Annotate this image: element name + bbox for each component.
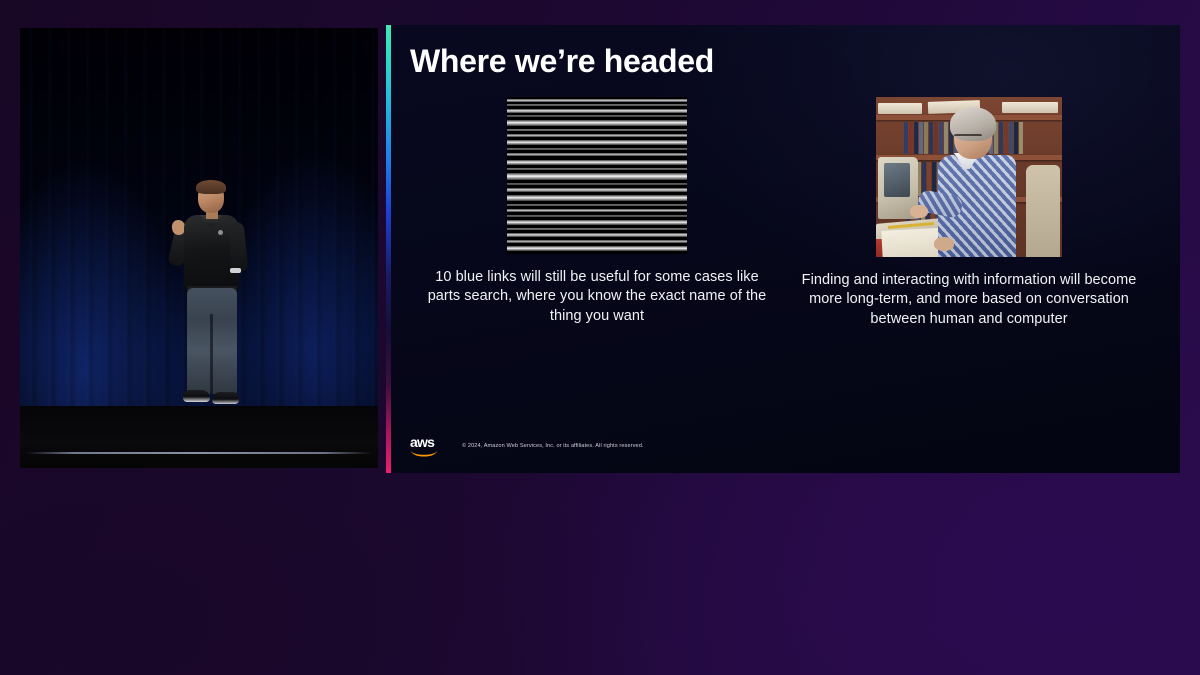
- screen-backdrop: Where we’re headed 10 blue links will st…: [0, 0, 1200, 675]
- photo-monitor-screen: [884, 163, 910, 197]
- photo-person-hand: [910, 205, 928, 218]
- barcode-stripe: [507, 148, 687, 150]
- speaker-stage-video[interactable]: [20, 28, 378, 468]
- barcode-stripe: [507, 209, 687, 212]
- barcode-stripe: [507, 168, 687, 170]
- barcode-figure-wrap: [418, 97, 776, 254]
- caption-right: Finding and interacting with information…: [790, 271, 1148, 329]
- slide-column-left: 10 blue links will still be useful for s…: [418, 97, 776, 326]
- barcode-stripe: [507, 215, 687, 217]
- vintage-librarian-at-computer-photo: [876, 97, 1062, 257]
- barcode-stripe: [507, 115, 687, 117]
- barcode-stripe: [507, 228, 687, 230]
- barcode-stripe: [507, 140, 687, 145]
- barcode-stripes-image: [507, 97, 687, 254]
- slide-footer: aws © 2024, Amazon Web Services, Inc. or…: [410, 435, 644, 457]
- barcode-stripe: [507, 233, 687, 237]
- presenter-left-shoe: [183, 390, 210, 402]
- photo-person-hand-lower: [934, 237, 954, 251]
- aws-wordmark: aws: [410, 435, 438, 449]
- copyright-text: © 2024, Amazon Web Services, Inc. or its…: [462, 443, 644, 449]
- gradient-accent-bar: [386, 25, 391, 473]
- barcode-stripe: [507, 195, 687, 201]
- barcode-stripe: [507, 220, 687, 225]
- barcode-stripe: [507, 153, 687, 156]
- aws-smile-arrow-icon: [411, 449, 437, 456]
- presenter-hair: [196, 180, 226, 194]
- barcode-stripe: [507, 246, 687, 251]
- presenter-right-shoe: [212, 392, 239, 404]
- photo-top-papers-left: [878, 103, 922, 114]
- presenter-jeans: [187, 288, 237, 394]
- barcode-stripe: [507, 173, 687, 180]
- barcode-stripe: [507, 188, 687, 192]
- aws-logo-icon: aws: [410, 435, 438, 457]
- barcode-stripe: [507, 134, 687, 137]
- barcode-stripe: [507, 104, 687, 106]
- barcode-stripe: [507, 160, 687, 165]
- barcode-stripe: [507, 240, 687, 243]
- presenter-shirt-logo: [218, 230, 223, 235]
- barcode-stripe: [507, 204, 687, 206]
- barcode-stripe: [507, 129, 687, 131]
- presentation-slide[interactable]: Where we’re headed 10 blue links will st…: [386, 25, 1180, 473]
- photo-person-glasses: [954, 134, 982, 140]
- stage-floor-edge: [26, 452, 372, 454]
- barcode-stripe: [507, 183, 687, 185]
- presenter-wristwatch: [230, 268, 241, 273]
- barcode-stripe: [507, 120, 687, 126]
- slide-title: Where we’re headed: [410, 43, 714, 80]
- photo-top-papers-right: [1002, 102, 1058, 113]
- presenter-figure: [166, 182, 256, 420]
- photo-figure-wrap: [790, 97, 1148, 257]
- photo-chair: [1026, 165, 1060, 257]
- stage-floor: [20, 406, 378, 468]
- slide-column-right: Finding and interacting with information…: [790, 97, 1148, 329]
- caption-left: 10 blue links will still be useful for s…: [418, 268, 776, 326]
- barcode-stripe: [507, 99, 687, 102]
- barcode-stripe: [507, 109, 687, 113]
